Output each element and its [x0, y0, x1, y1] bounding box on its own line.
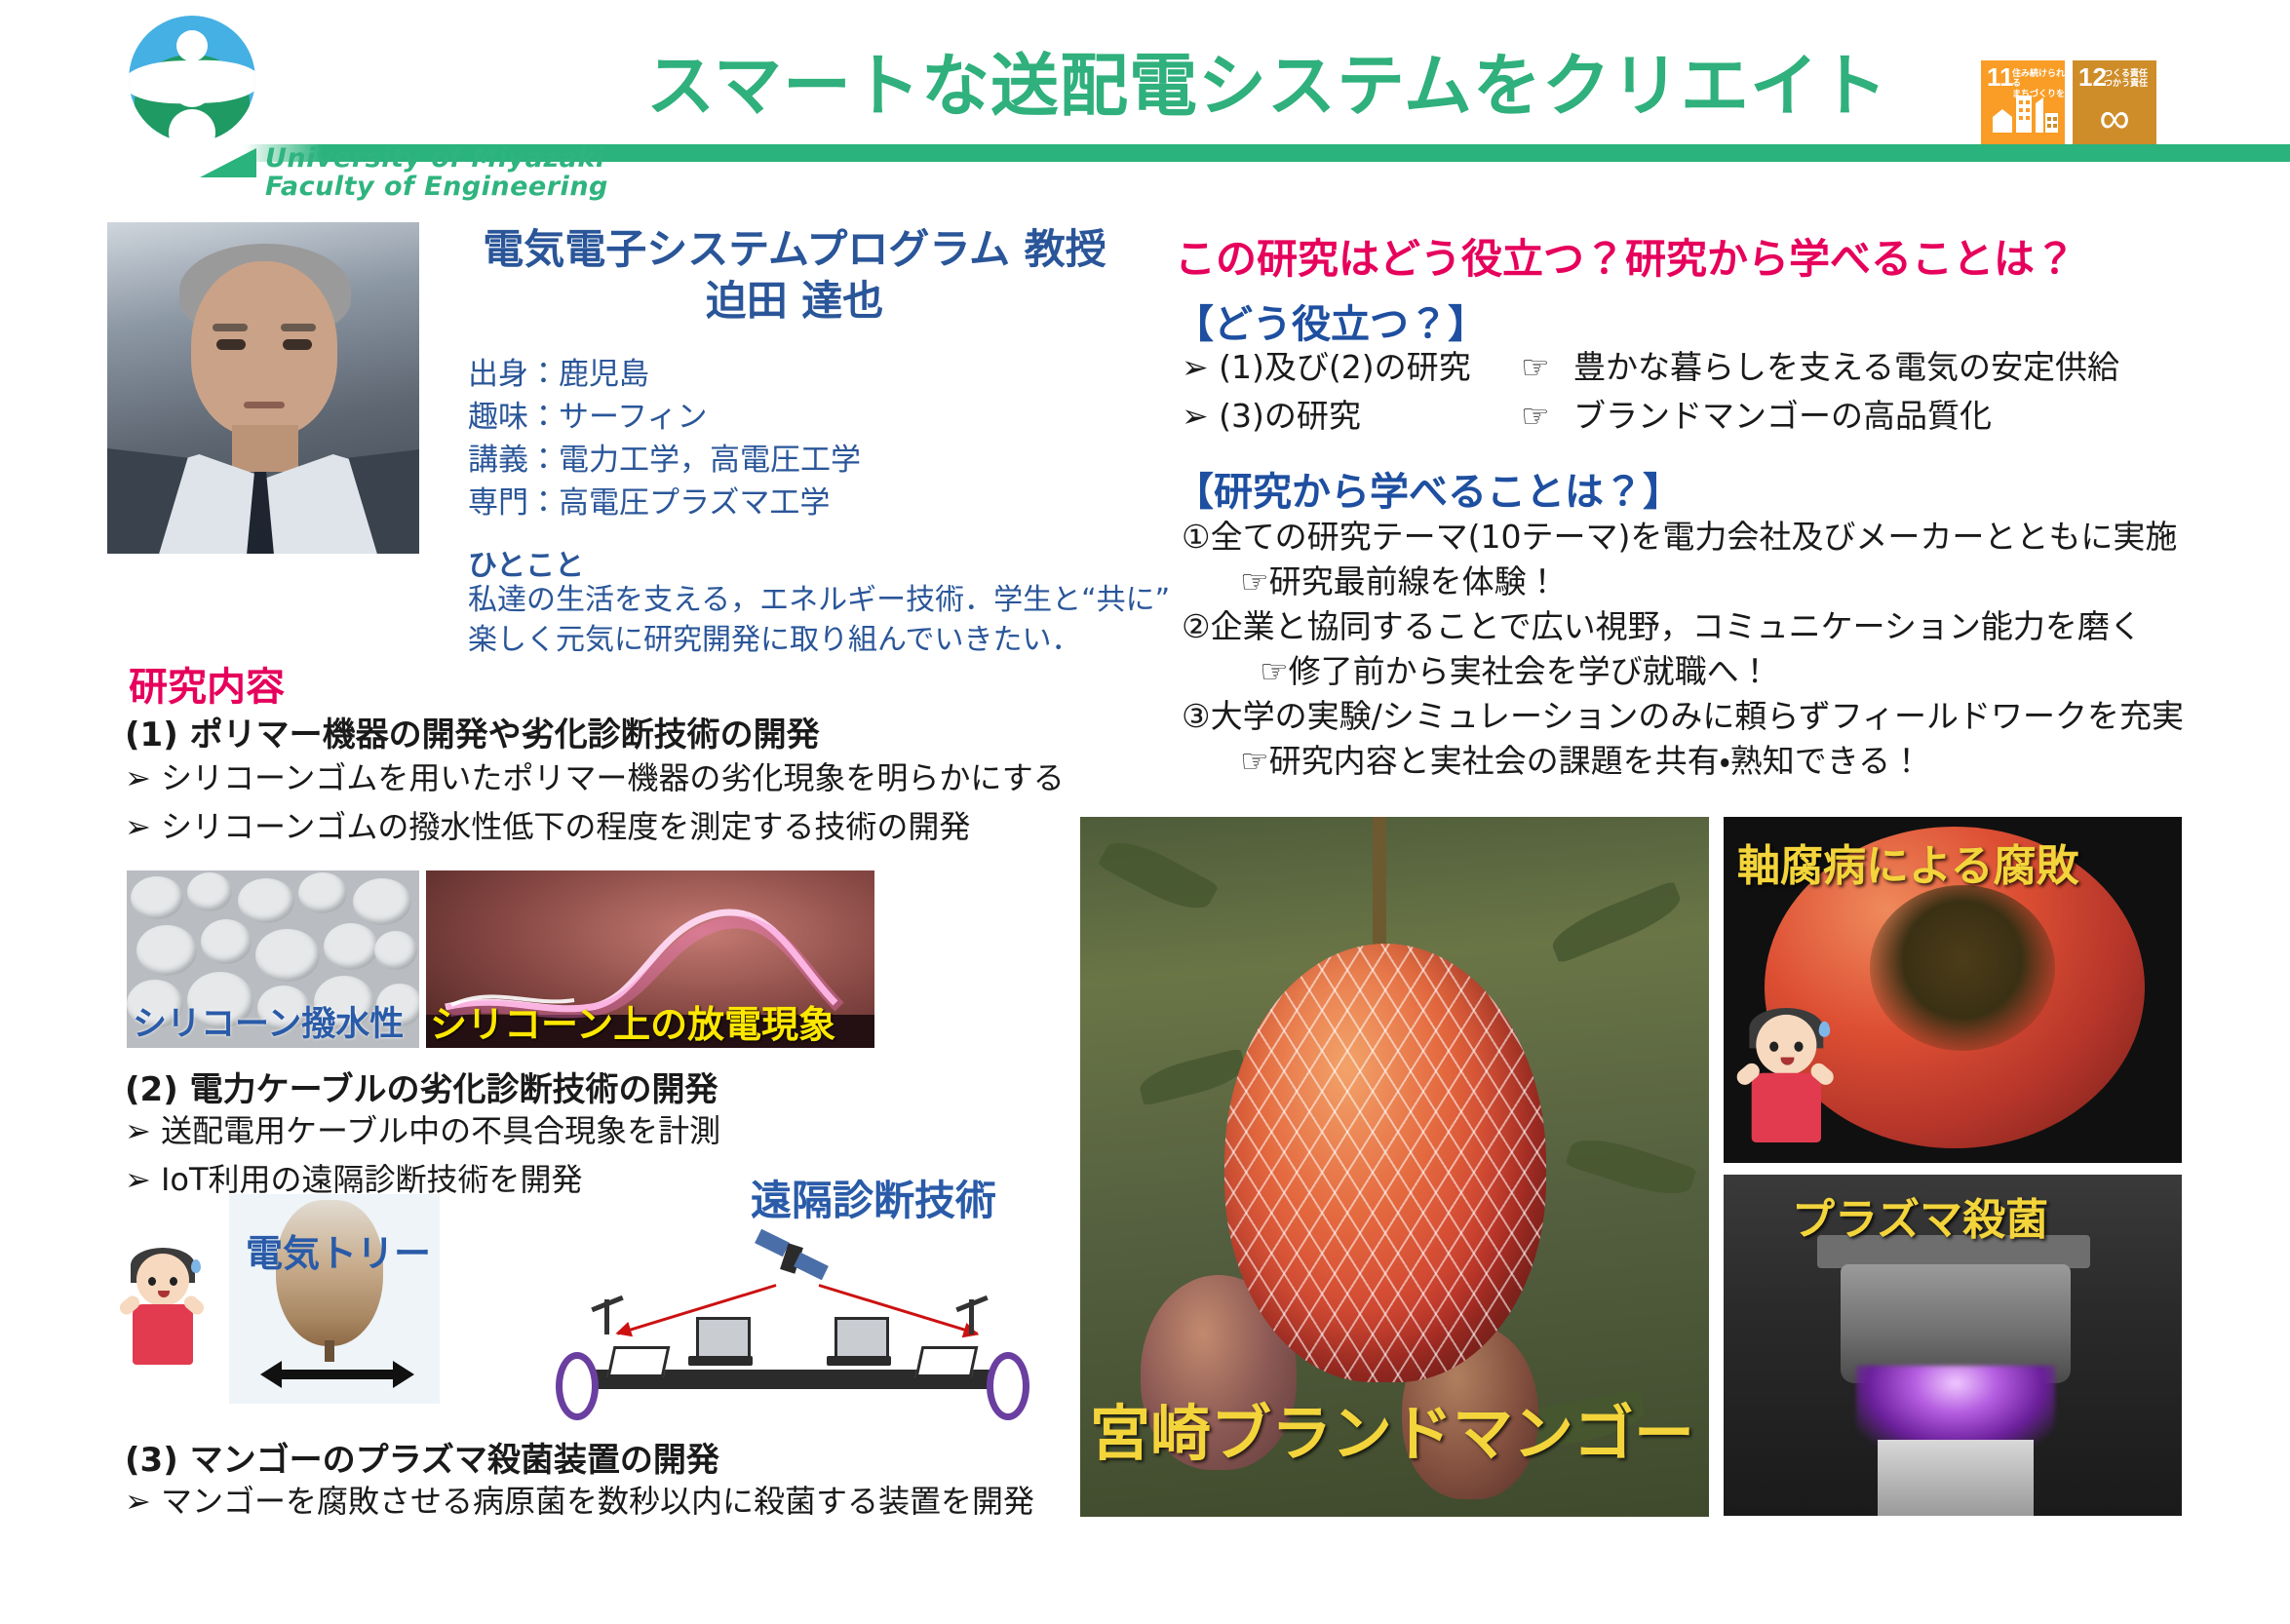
professor-role-block: 電気電子システムプログラム 教授 迫田 達也: [444, 224, 1145, 327]
professor-meta-origin: 出身：鹿児島: [468, 353, 861, 396]
logo-line-2: Faculty of Engineering: [265, 173, 608, 201]
professor-meta-lectures: 講義：電力工学，高電圧工学: [468, 439, 861, 482]
photo-miyazaki-mango: 宮崎ブランドマンゴー: [1080, 817, 1709, 1517]
photo-discharge-caption: シリコーン上の放電現象: [430, 994, 835, 1048]
hitokoto-line-1: 私達の生活を支える，エネルギー技術．学生と“共に”: [468, 580, 1170, 620]
sdg-12-label-line1: つくる責任: [2104, 68, 2148, 78]
professor-role: 電気電子システムプログラム 教授: [444, 224, 1145, 276]
research-item2-heading: (2) 電力ケーブルの劣化診断技術の開発: [125, 1063, 718, 1110]
professor-name: 迫田 達也: [444, 276, 1145, 328]
hitokoto-heading: ひとこと: [468, 541, 584, 584]
pointing-hand-icon-2: ☞: [1521, 396, 1573, 438]
learning-item-1-main: ①全ての研究テーマ(10テーマ)を電力会社及びメーカーとともに実施: [1182, 517, 2177, 559]
logo-wedge-icon: [200, 148, 256, 177]
photo-silicone-caption: シリコーン撥水性: [133, 996, 404, 1046]
plasma-caption: プラズマ殺菌: [1792, 1184, 2048, 1247]
research-section-title: 研究内容: [129, 655, 285, 712]
professor-meta-specialty: 専門：高電圧プラズマ工学: [468, 482, 861, 524]
learning-item-3-main: ③大学の実験/シミュレーションのみに頼らずフィールドワークを充実: [1182, 696, 2184, 738]
pointing-hand-icon-1: ☞: [1521, 347, 1573, 389]
diagram-remote-diagnosis: [546, 1223, 1033, 1409]
girl-clipart-icon: [115, 1248, 209, 1374]
research-item2-bullet-1: ➢ 送配電用ケーブル中の不具合現象を計測: [125, 1111, 720, 1152]
photo-silicone-hydrophobicity: シリコーン撥水性: [127, 870, 419, 1048]
laptop-left-icon: [688, 1317, 753, 1372]
usefulness-row-1-right: 豊かな暮らしを支える電気の安定供給: [1573, 348, 2119, 386]
antenna-right-icon: [955, 1299, 989, 1334]
professor-portrait: [107, 222, 419, 554]
learning-item-2-main: ②企業と協同することで広い視野，コミュニケーション能力を磨く: [1182, 606, 2142, 648]
usefulness-row-1: ➢ (1)及び(2)の研究☞豊かな暮らしを支える電気の安定供給: [1182, 347, 2119, 389]
page-title: スマートな送配電システムをクリエイト: [604, 31, 1930, 130]
university-logo-icon: [129, 16, 255, 142]
antenna-left-icon: [591, 1299, 624, 1334]
label-remote-diagnosis: 遠隔診断技術: [751, 1168, 996, 1227]
benefits-heading: この研究はどう役立つ？研究から学べることは？: [1175, 226, 2076, 286]
city-icon: [1981, 88, 2065, 140]
professor-meta-hobby: 趣味：サーフィン: [468, 396, 861, 439]
learning-item-2-sub: ☞修了前から実社会を学び就職へ！: [1260, 651, 1771, 693]
professor-meta-list: 出身：鹿児島 趣味：サーフィン 講義：電力工学，高電圧工学 専門：高電圧プラズマ…: [468, 353, 861, 524]
laptop-right-icon: [827, 1317, 891, 1372]
research-item1-bullet-1: ➢ シリコーンゴムを用いたポリマー機器の劣化現象を明らかにする: [125, 758, 1065, 799]
sdg-badge-11: 11 住み続けられる まちづくりを: [1981, 60, 2065, 144]
usefulness-row-2-right: ブランドマンゴーの高品質化: [1573, 397, 1992, 435]
infinity-recycle-icon: ∞: [2073, 97, 2156, 140]
hitokoto-line-2: 楽しく元気に研究開発に取り組んでいきたい．: [468, 620, 1170, 660]
mango-caption: 宮崎ブランドマンゴー: [1090, 1384, 1694, 1472]
photo-plasma-sterilization: プラズマ殺菌: [1724, 1175, 2182, 1516]
sdg-12-label-line2: つかう責任: [2104, 78, 2148, 88]
sdg-badges: 11 住み続けられる まちづくりを: [1981, 60, 2156, 144]
learning-item-3-sub: ☞研究内容と実社会の課題を共有・熟知できる！: [1240, 741, 1922, 783]
usefulness-row-1-left: ➢ (1)及び(2)の研究: [1182, 347, 1521, 389]
research-item1-bullet-2: ➢ シリコーンゴムの撥水性低下の程度を測定する技術の開発: [125, 807, 970, 848]
rot-caption: 軸腐病による腐敗: [1737, 831, 2079, 893]
usefulness-row-2-left: ➢ (3)の研究: [1182, 396, 1521, 438]
sdg-12-number: 12: [2078, 64, 2107, 90]
usefulness-title: 【どう役立つ？】: [1175, 292, 1487, 349]
poster-canvas: University of Miyazaki Faculty of Engine…: [0, 0, 2290, 1624]
photo-stem-end-rot: 軸腐病による腐敗: [1724, 817, 2182, 1163]
sdg-badge-12: 12 つくる責任 つかう責任 ∞: [2073, 60, 2156, 144]
sdg-12-label: つくる責任 つかう責任: [2104, 68, 2148, 89]
research-item3-heading: (3) マンゴーのプラズマ殺菌装置の開発: [125, 1433, 719, 1481]
sdg-11-label-line1: 住み続けられる: [2012, 68, 2065, 89]
girl-clipart-icon-2: [1731, 1008, 1839, 1154]
research-item1-heading: (1) ポリマー機器の開発や劣化診断技術の開発: [125, 708, 820, 755]
poster-header: University of Miyazaki Faculty of Engine…: [0, 0, 2290, 185]
logo-line-1: University of Miyazaki: [265, 144, 608, 173]
university-logo-text: University of Miyazaki Faculty of Engine…: [265, 144, 608, 201]
usefulness-row-2: ➢ (3)の研究☞ブランドマンゴーの高品質化: [1182, 396, 1992, 438]
photo-surface-discharge: シリコーン上の放電現象: [426, 870, 874, 1048]
learning-item-1-sub: ☞研究最前線を体験！: [1240, 561, 1559, 603]
hitokoto-body: 私達の生活を支える，エネルギー技術．学生と“共に” 楽しく元気に研究開発に取り組…: [468, 580, 1170, 661]
learning-title: 【研究から学べることは？】: [1175, 460, 1682, 517]
sdg-11-number: 11: [1987, 64, 2014, 90]
research-item3-bullet-1: ➢ マンゴーを腐敗させる病原菌を数秒以内に殺菌する装置を開発: [125, 1482, 1034, 1523]
satellite-icon: [757, 1229, 827, 1286]
label-electrical-tree: 電気トリー: [246, 1223, 431, 1277]
